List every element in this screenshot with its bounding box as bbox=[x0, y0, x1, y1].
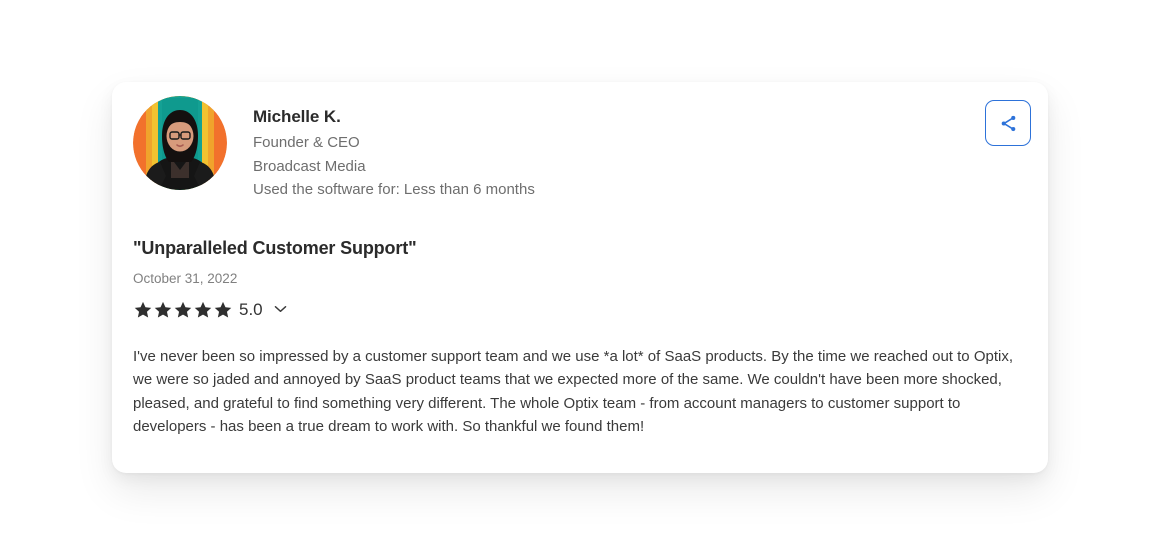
review-card: Michelle K. Founder & CEO Broadcast Medi… bbox=[112, 82, 1048, 473]
share-button[interactable] bbox=[985, 100, 1031, 146]
review-body: "Unparalleled Customer Support" October … bbox=[133, 237, 1030, 454]
reviewer-usage-duration: Used the software for: Less than 6 month… bbox=[253, 178, 985, 202]
star-rating bbox=[133, 300, 233, 319]
page-root: Michelle K. Founder & CEO Broadcast Medi… bbox=[0, 0, 1164, 558]
reviewer-meta: Michelle K. Founder & CEO Broadcast Medi… bbox=[253, 96, 985, 202]
reviewer-industry: Broadcast Media bbox=[253, 155, 985, 179]
star-icon bbox=[153, 300, 173, 319]
star-icon bbox=[173, 300, 193, 319]
share-icon bbox=[999, 114, 1018, 133]
review-date: October 31, 2022 bbox=[133, 270, 1030, 288]
avatar-image bbox=[133, 96, 227, 190]
rating-row[interactable]: 5.0 bbox=[133, 300, 287, 319]
star-icon bbox=[133, 300, 153, 319]
chevron-down-icon[interactable] bbox=[274, 305, 287, 313]
review-text: I've never been so impressed by a custom… bbox=[133, 345, 1030, 439]
avatar bbox=[133, 96, 227, 190]
reviewer-role: Founder & CEO bbox=[253, 131, 985, 155]
reviewer-name: Michelle K. bbox=[253, 106, 985, 128]
star-icon bbox=[213, 300, 233, 319]
review-title: "Unparalleled Customer Support" bbox=[133, 237, 1030, 260]
rating-value: 5.0 bbox=[239, 301, 263, 318]
review-header: Michelle K. Founder & CEO Broadcast Medi… bbox=[133, 96, 1031, 202]
star-icon bbox=[193, 300, 213, 319]
